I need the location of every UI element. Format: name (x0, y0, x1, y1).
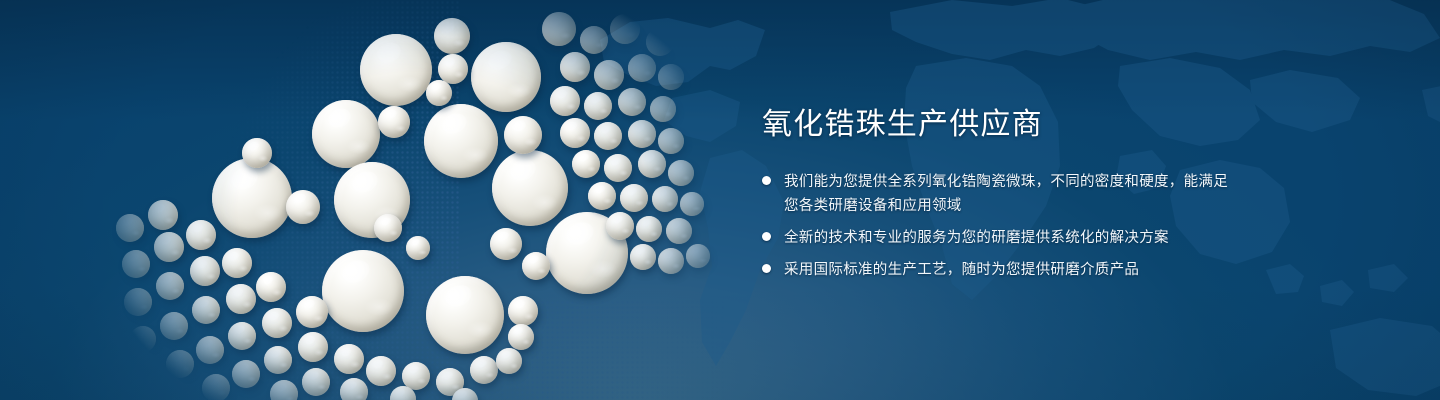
feature-bullet-item: 我们能为您提供全系列氧化锆陶瓷微珠，不同的密度和硬度，能满足您各类研磨设备和应用… (762, 170, 1232, 218)
banner-content: 氧化锆珠生产供应商 我们能为您提供全系列氧化锆陶瓷微珠，不同的密度和硬度，能满足… (762, 104, 1232, 290)
banner-headline: 氧化锆珠生产供应商 (762, 104, 1232, 146)
zirconia-beads-image (90, 0, 730, 400)
hero-banner: 氧化锆珠生产供应商 我们能为您提供全系列氧化锆陶瓷微珠，不同的密度和硬度，能满足… (0, 0, 1440, 400)
bullet-circle-icon (762, 264, 771, 273)
feature-bullet-text: 采用国际标准的生产工艺，随时为您提供研磨介质产品 (784, 258, 1139, 282)
bullet-circle-icon (762, 176, 771, 185)
feature-bullet-list: 我们能为您提供全系列氧化锆陶瓷微珠，不同的密度和硬度，能满足您各类研磨设备和应用… (762, 170, 1232, 282)
feature-bullet-text: 我们能为您提供全系列氧化锆陶瓷微珠，不同的密度和硬度，能满足您各类研磨设备和应用… (784, 170, 1232, 218)
bullet-circle-icon (762, 232, 771, 241)
feature-bullet-text: 全新的技术和专业的服务为您的研磨提供系统化的解决方案 (784, 226, 1169, 250)
feature-bullet-item: 采用国际标准的生产工艺，随时为您提供研磨介质产品 (762, 258, 1232, 282)
feature-bullet-item: 全新的技术和专业的服务为您的研磨提供系统化的解决方案 (762, 226, 1232, 250)
